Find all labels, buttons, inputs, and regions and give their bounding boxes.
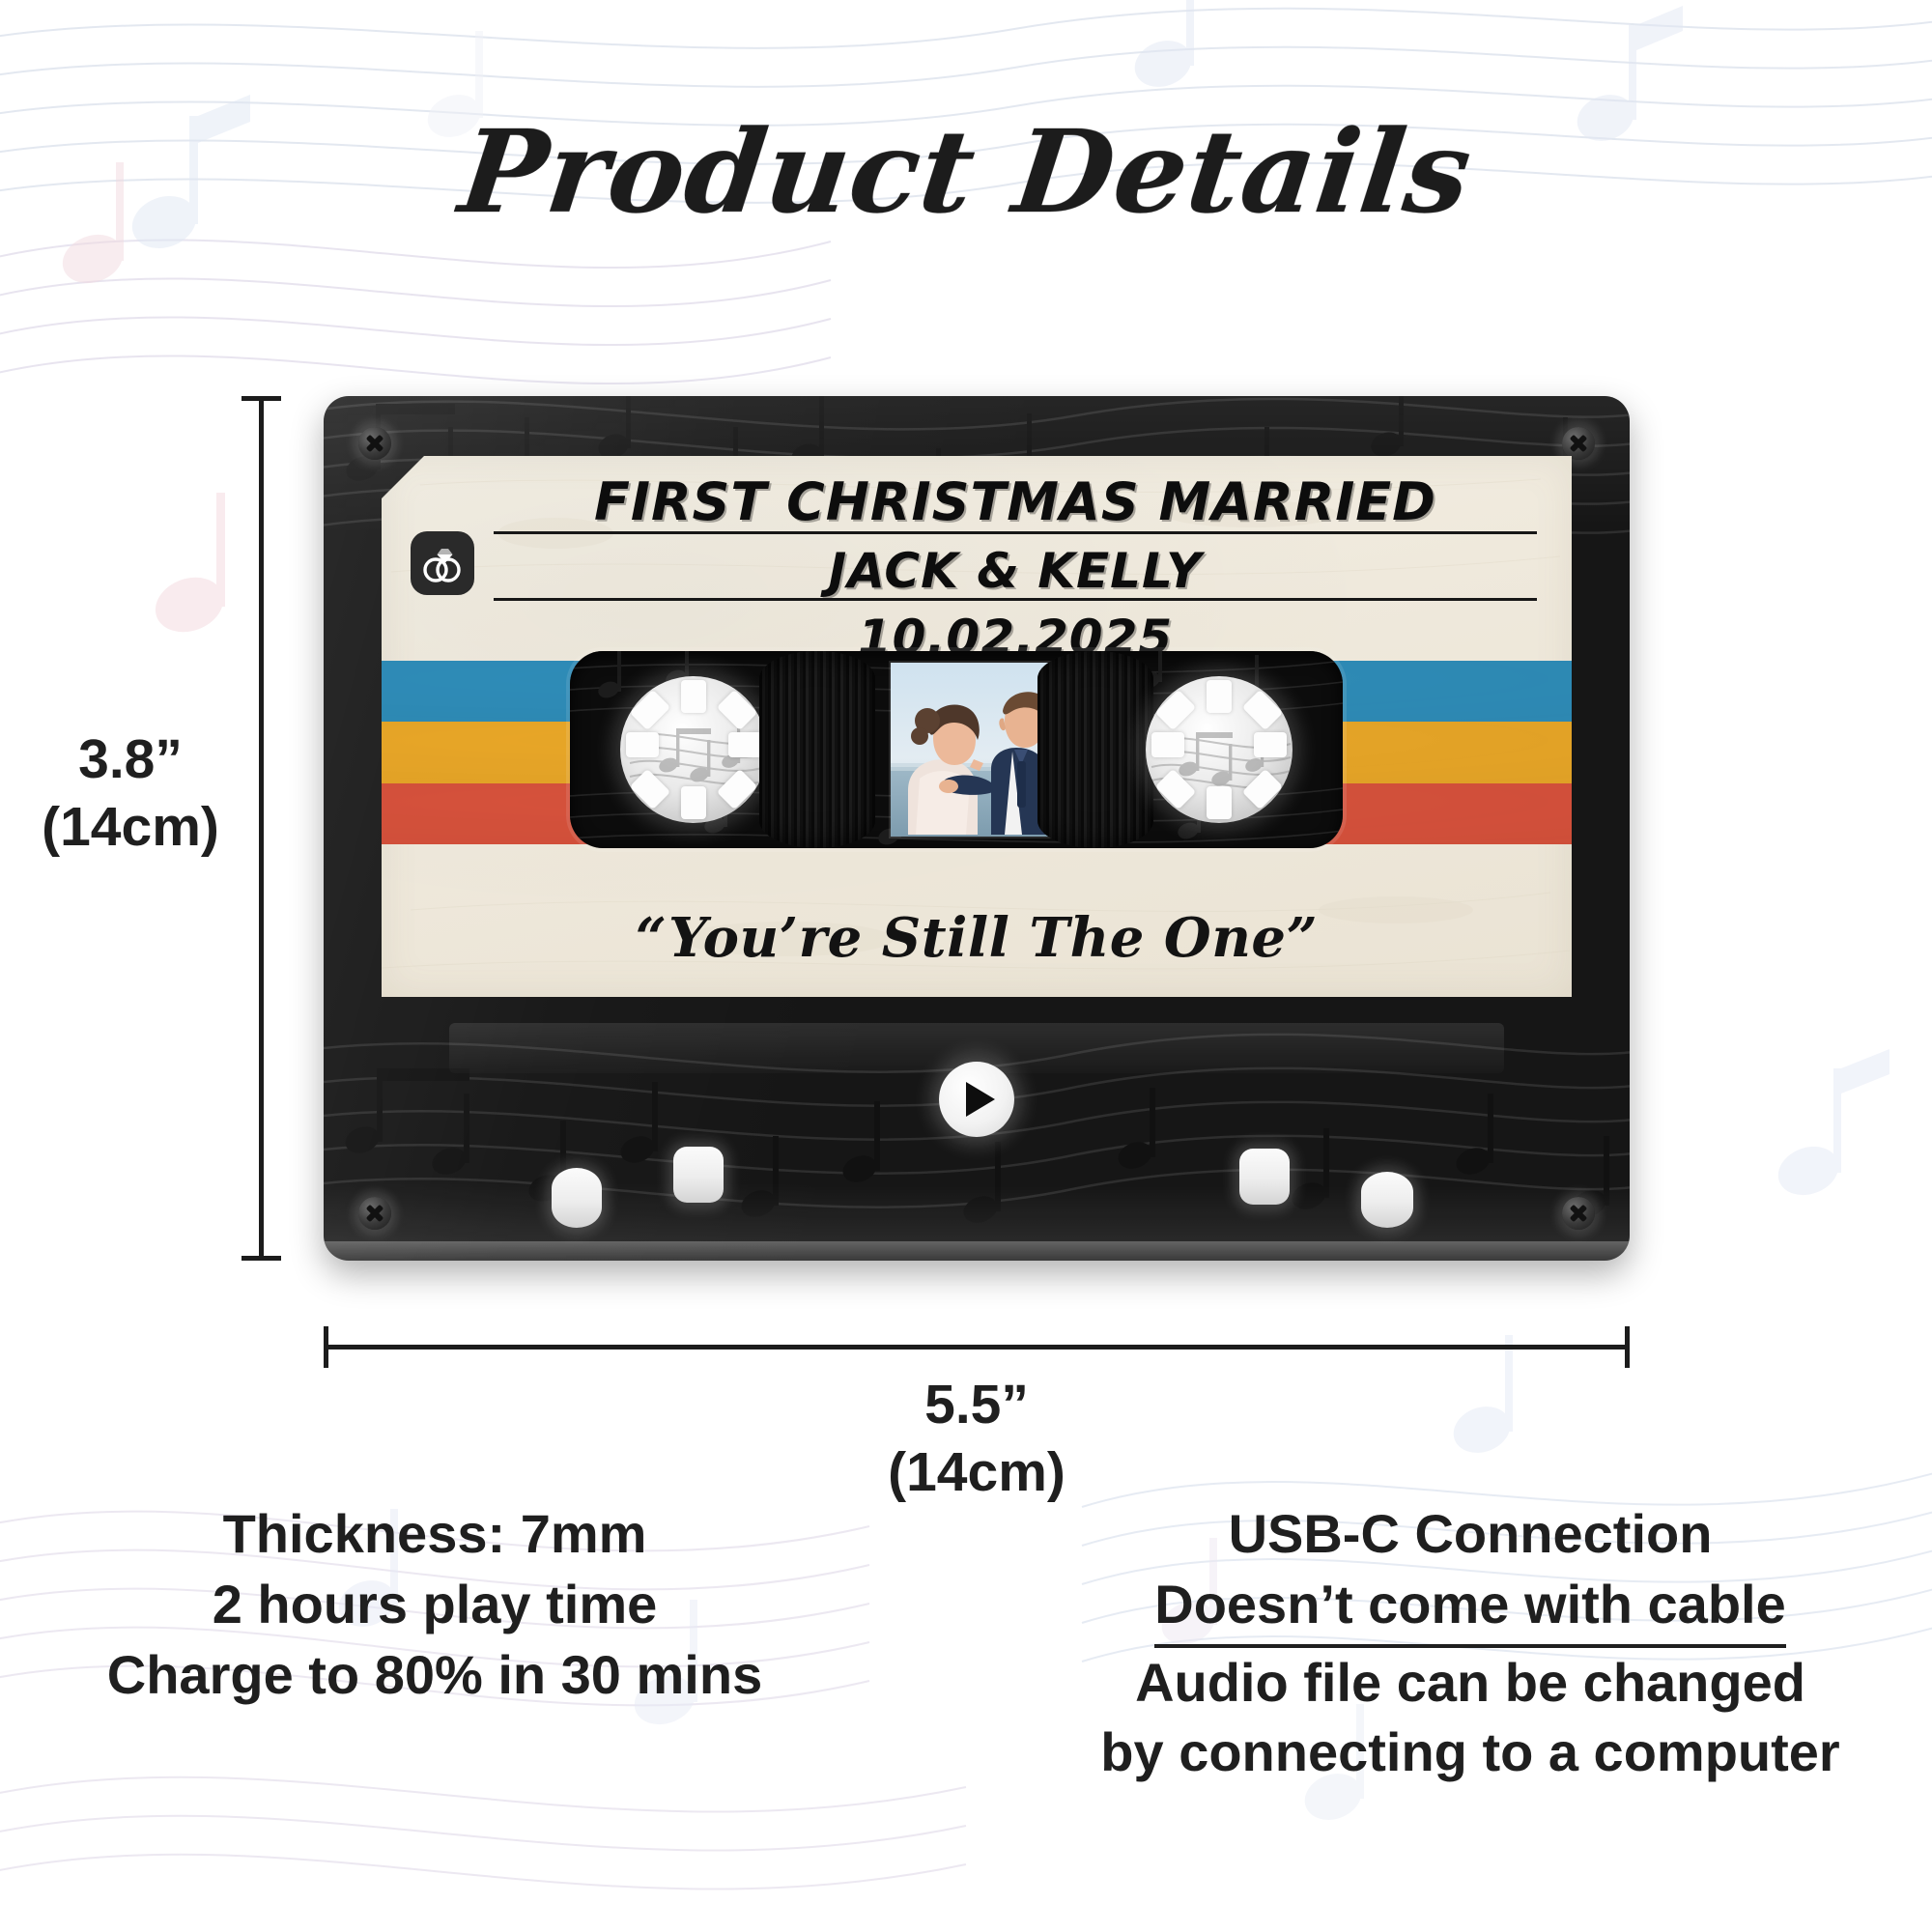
cassette-product-image: FIRST CHRISTMAS MARRIED JACK & KELLY 10.…	[324, 396, 1630, 1261]
screw-top-left-icon	[358, 427, 391, 460]
reel-tooth	[1207, 786, 1232, 819]
spec-right-line-4: by connecting to a computer	[1045, 1718, 1895, 1788]
deck-button-1[interactable]	[552, 1168, 602, 1228]
deck-button-2[interactable]	[673, 1147, 724, 1203]
width-dimension-cap-left	[324, 1326, 328, 1368]
deck-button-3[interactable]	[1239, 1149, 1290, 1205]
reel-hub-right-icon	[1146, 676, 1293, 823]
width-inches: 5.5”	[808, 1372, 1146, 1439]
width-cm: (14cm)	[808, 1439, 1146, 1507]
reel-tooth	[1254, 732, 1287, 757]
width-dimension-cap-right	[1625, 1326, 1630, 1368]
tape-spool-left	[759, 651, 875, 848]
reel-tooth	[681, 680, 706, 713]
wedding-rings-glyph	[420, 541, 465, 585]
play-triangle	[966, 1082, 995, 1117]
width-dimension-line	[324, 1345, 1630, 1350]
height-dimension-label: 3.8” (14cm)	[10, 726, 251, 861]
tape-spool-right	[1037, 651, 1153, 848]
reel-tooth	[1207, 680, 1232, 713]
spec-left-line-1: Thickness: 7mm	[68, 1499, 802, 1570]
height-cm: (14cm)	[10, 794, 251, 862]
label-line-1-row: FIRST CHRISTMAS MARRIED	[494, 468, 1537, 534]
reel-hub-left-icon	[620, 676, 767, 823]
label-line-2-row: JACK & KELLY	[494, 534, 1537, 601]
spec-block-right: USB-C Connection Doesn’t come with cable…	[1045, 1499, 1895, 1788]
height-inches: 3.8”	[10, 726, 251, 794]
wedding-rings-icon	[411, 531, 474, 595]
play-icon[interactable]	[939, 1062, 1014, 1137]
reel-tooth	[681, 786, 706, 819]
spec-right-line-1: USB-C Connection	[1045, 1499, 1895, 1570]
spec-left-line-3: Charge to 80% in 30 mins	[68, 1640, 802, 1711]
spec-block-left: Thickness: 7mm 2 hours play time Charge …	[68, 1499, 802, 1710]
height-dimension-line	[259, 396, 264, 1261]
tape-window	[570, 651, 1343, 848]
height-dimension-cap-bottom	[241, 1256, 281, 1261]
spec-right-line-2: Doesn’t come with cable	[1154, 1570, 1786, 1648]
spec-left-line-2: 2 hours play time	[68, 1570, 802, 1640]
label-text-lines: FIRST CHRISTMAS MARRIED JACK & KELLY 10.…	[494, 468, 1537, 668]
reel-tooth	[1151, 732, 1184, 757]
spec-right-line-3: Audio file can be changed	[1045, 1648, 1895, 1719]
deck-button-4[interactable]	[1361, 1172, 1413, 1228]
reel-tooth	[728, 732, 761, 757]
reel-tooth	[626, 732, 659, 757]
product-details-page: Product Details 3.8” (14cm) 5.5” (14cm)	[0, 0, 1932, 1932]
label-names-text: JACK & KELLY	[494, 543, 1537, 599]
label-title-text: FIRST CHRISTMAS MARRIED	[494, 471, 1537, 532]
page-title: Product Details	[0, 104, 1932, 239]
label-song-quote: “You’re Still The One”	[382, 906, 1572, 970]
cassette-bottom-deck	[324, 1002, 1630, 1261]
deck-bottom-rim	[324, 1241, 1630, 1261]
screw-top-right-icon	[1562, 427, 1595, 460]
width-dimension-label: 5.5” (14cm)	[808, 1372, 1146, 1506]
height-dimension-cap-top	[241, 396, 281, 401]
